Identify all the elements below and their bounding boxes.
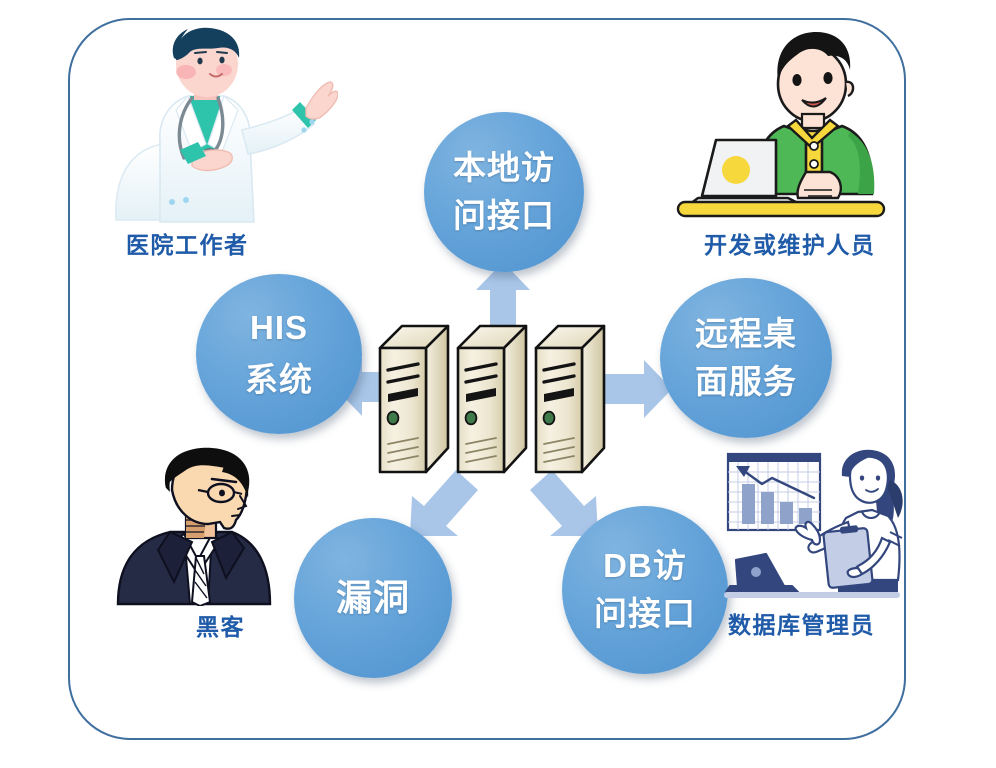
role-label-hospital-worker: 医院工作者 xyxy=(126,226,249,260)
node-his-system[interactable]: HIS 系统 xyxy=(196,274,362,434)
server-stack-icon xyxy=(378,318,626,478)
node-db-access-interface-line-1: DB访 xyxy=(603,546,687,586)
role-label-developer-maintainer: 开发或维护人员 xyxy=(704,226,876,260)
node-local-access-interface-line-2: 问接口 xyxy=(453,196,555,236)
node-vulnerability[interactable]: 漏洞 xyxy=(294,518,452,678)
node-db-access-interface-line-2: 问接口 xyxy=(594,594,696,634)
hacker-profile-illustration xyxy=(112,446,312,606)
dba-chart-illustration xyxy=(722,446,914,602)
doctor-illustration xyxy=(108,24,338,224)
diagram-canvas: 本地访 问接口 HIS 系统 远程桌 面服务 漏洞 DB访 问接口 xyxy=(0,0,996,768)
node-vulnerability-line-1: 漏洞 xyxy=(336,576,410,620)
node-local-access-interface[interactable]: 本地访 问接口 xyxy=(424,112,584,272)
node-remote-desktop-service[interactable]: 远程桌 面服务 xyxy=(660,278,832,438)
node-his-system-line-1: HIS xyxy=(250,308,308,348)
role-label-hacker: 黑客 xyxy=(196,608,245,642)
node-remote-desktop-service-line-2: 面服务 xyxy=(695,362,797,402)
role-label-database-administrator: 数据库管理员 xyxy=(728,606,875,640)
developer-laptop-illustration xyxy=(672,22,900,222)
node-db-access-interface[interactable]: DB访 问接口 xyxy=(562,506,728,674)
node-local-access-interface-line-1: 本地访 xyxy=(453,148,555,188)
node-remote-desktop-service-line-1: 远程桌 xyxy=(695,314,797,354)
node-his-system-line-2: 系统 xyxy=(245,360,313,400)
